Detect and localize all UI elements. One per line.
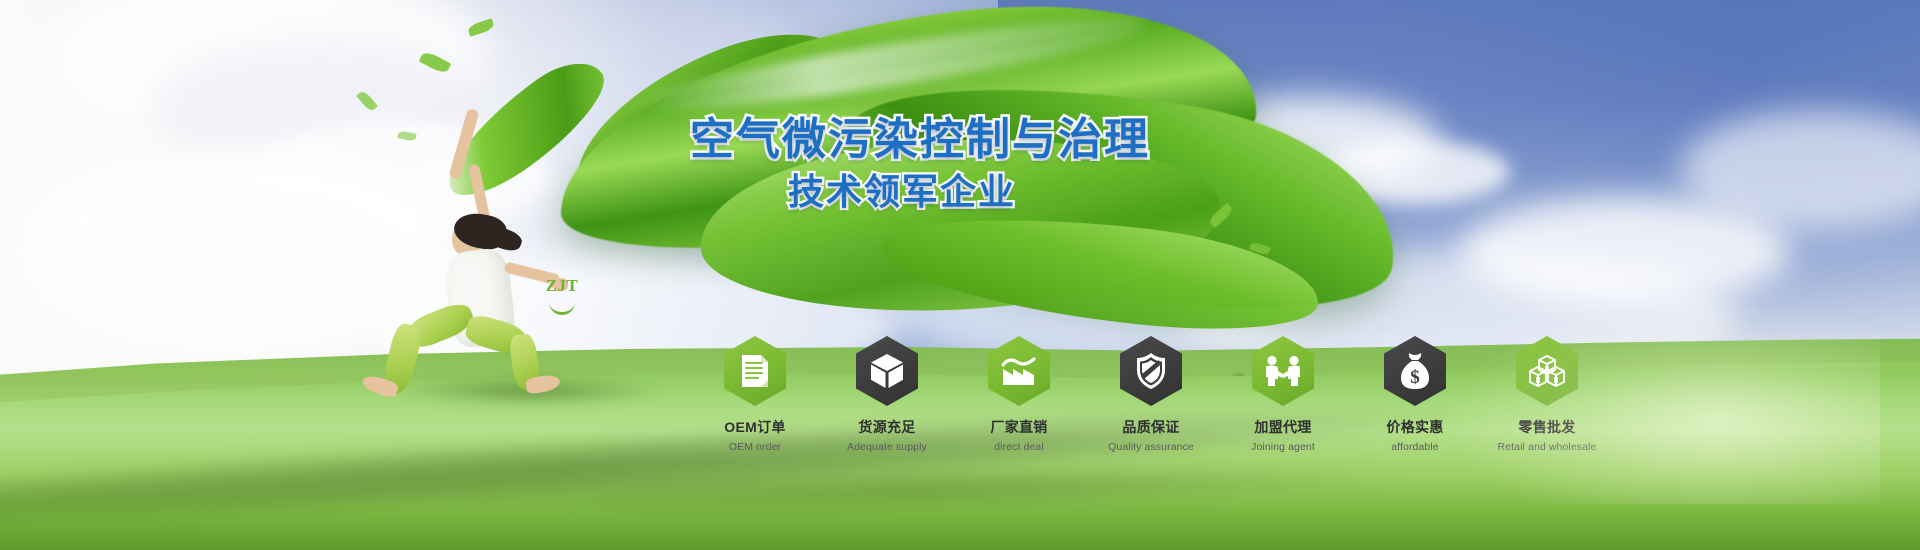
feature-label-cn: 价格实惠 <box>1386 417 1443 437</box>
logo-badge: ZJT <box>540 272 584 320</box>
svg-text:$: $ <box>1410 367 1420 388</box>
feature-label-en: Retail and wholesale <box>1498 441 1597 453</box>
feature-label-cn: 厂家直销 <box>990 417 1047 437</box>
document-icon <box>724 336 786 406</box>
packages-icon <box>1516 336 1578 406</box>
handshake-icon <box>1252 336 1314 406</box>
feature-item-retail-wholesale[interactable]: 零售批发 Retail and wholesale <box>1504 336 1590 453</box>
feature-item-oem-order[interactable]: OEM订单 OEM order <box>712 336 798 453</box>
feature-label-cn: 零售批发 <box>1518 417 1575 437</box>
hero-banner: ZJT 空气微污染控制与治理 技术领军企业 <box>0 0 1920 550</box>
feature-label-en: Adequate supply <box>847 441 927 453</box>
headline-block: 空气微污染控制与治理 技术领军企业 <box>690 118 1230 210</box>
feature-label-en: OEM order <box>729 441 781 453</box>
factory-icon <box>988 336 1050 406</box>
feature-item-joining-agent[interactable]: 加盟代理 Joining agent <box>1240 336 1326 453</box>
feature-label-en: direct deal <box>994 441 1044 453</box>
feature-item-quality-assurance[interactable]: 品质保证 Quality assurance <box>1108 336 1194 453</box>
runner-figure <box>400 110 650 410</box>
money-bag-icon: $ <box>1384 336 1446 406</box>
feature-label-en: affordable <box>1391 441 1439 453</box>
shield-icon <box>1120 336 1182 406</box>
feature-label-cn: OEM订单 <box>724 417 785 437</box>
feature-item-affordable[interactable]: $ 价格实惠 affordable <box>1372 336 1458 453</box>
feature-label-en: Joining agent <box>1251 441 1315 453</box>
logo-text: ZJT <box>546 277 579 294</box>
feature-label-cn: 品质保证 <box>1122 417 1179 437</box>
feature-label-cn: 加盟代理 <box>1254 417 1311 437</box>
box-icon <box>856 336 918 406</box>
cloud <box>1320 140 1510 204</box>
headline-line-2: 技术领军企业 <box>788 174 1230 210</box>
feature-list: OEM订单 OEM order 货源充足 Adequate supply <box>712 336 1590 453</box>
feature-item-adequate-supply[interactable]: 货源充足 Adequate supply <box>844 336 930 453</box>
feature-item-direct-deal[interactable]: 厂家直销 direct deal <box>976 336 1062 453</box>
feature-label-en: Quality assurance <box>1108 441 1194 453</box>
feature-label-cn: 货源充足 <box>858 417 915 437</box>
logo-arc-icon <box>549 299 575 315</box>
headline-line-1: 空气微污染控制与治理 <box>690 118 1230 162</box>
